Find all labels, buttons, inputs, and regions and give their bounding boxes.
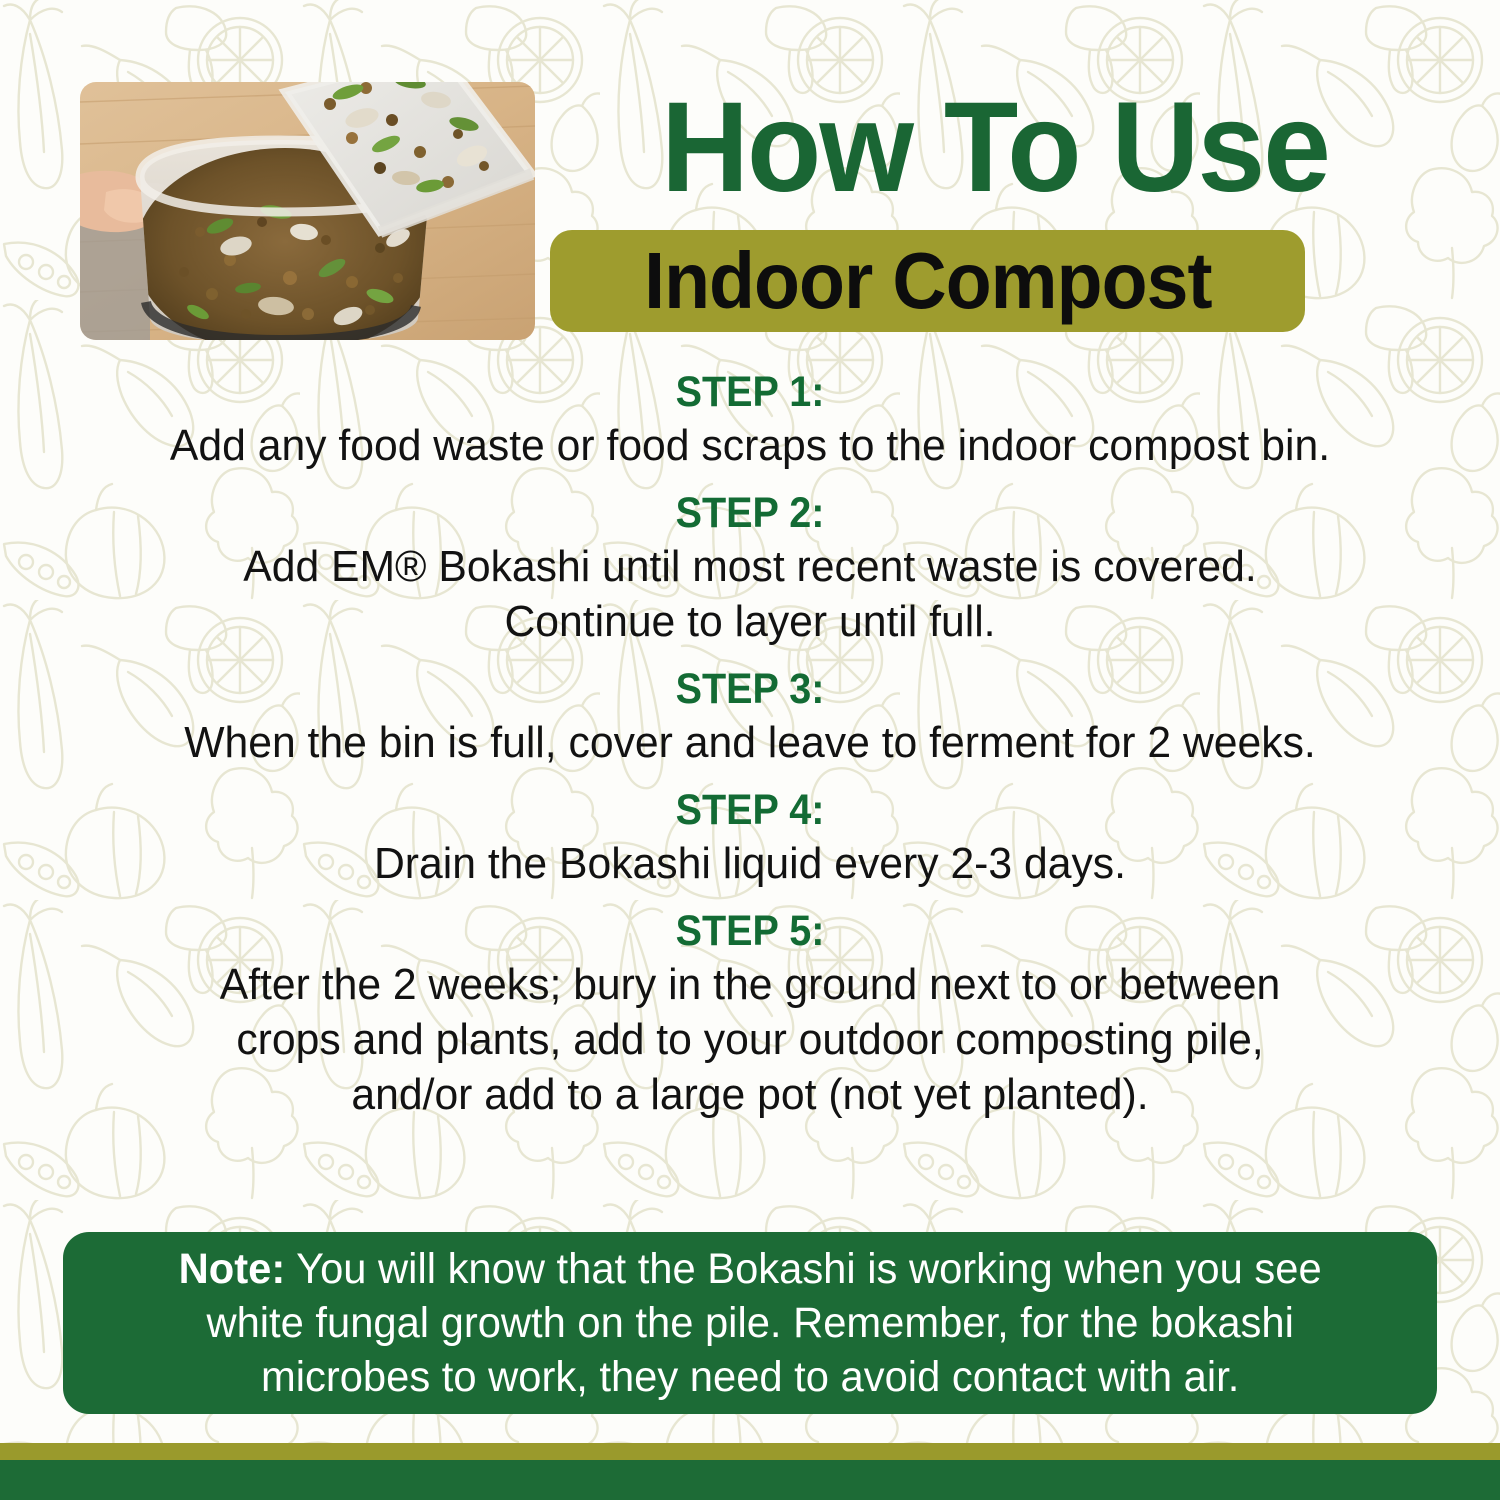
bottom-green-bar [0, 1460, 1500, 1500]
step-2: STEP 2: Add EM® Bokashi until most recen… [0, 487, 1500, 649]
hero-photo-compost-bin [80, 82, 535, 340]
step-1-body: Add any food waste or food scraps to the… [23, 418, 1478, 473]
note-callout-box: Note: You will know that the Bokashi is … [63, 1232, 1437, 1414]
subtitle-banner: Indoor Compost [550, 230, 1305, 332]
step-5: STEP 5: After the 2 weeks; bury in the g… [0, 905, 1500, 1122]
header: How To Use Indoor Compost [0, 0, 1500, 360]
step-1-heading: STEP 1: [60, 366, 1440, 418]
note-line-3: microbes to work, they need to avoid con… [179, 1350, 1322, 1404]
step-4-line-1: Drain the Bokashi liquid every 2-3 days. [90, 836, 1409, 891]
note-text: Note: You will know that the Bokashi is … [155, 1242, 1345, 1404]
step-1-line-1: Add any food waste or food scraps to the… [90, 418, 1409, 473]
infographic-poster: How To Use Indoor Compost STEP 1: Add an… [0, 0, 1500, 1500]
step-3-line-1: When the bin is full, cover and leave to… [90, 715, 1409, 770]
step-2-line-1: Add EM® Bokashi until most recent waste … [90, 539, 1409, 594]
page-subtitle: Indoor Compost [644, 240, 1211, 322]
note-line-2: white fungal growth on the pile. Remembe… [179, 1296, 1322, 1350]
steps-list: STEP 1: Add any food waste or food scrap… [0, 366, 1500, 1136]
step-5-line-3: and/or add to a large pot (not yet plant… [90, 1067, 1409, 1122]
step-1: STEP 1: Add any food waste or food scrap… [0, 366, 1500, 473]
bottom-olive-bar [0, 1443, 1500, 1460]
step-3: STEP 3: When the bin is full, cover and … [0, 663, 1500, 770]
step-4-body: Drain the Bokashi liquid every 2-3 days. [23, 836, 1478, 891]
step-2-body: Add EM® Bokashi until most recent waste … [23, 539, 1478, 649]
page-title: How To Use [568, 78, 1423, 218]
step-5-line-1: After the 2 weeks; bury in the ground ne… [90, 957, 1409, 1012]
step-5-heading: STEP 5: [60, 905, 1440, 957]
step-5-body: After the 2 weeks; bury in the ground ne… [23, 957, 1478, 1122]
step-3-body: When the bin is full, cover and leave to… [23, 715, 1478, 770]
step-5-line-2: crops and plants, add to your outdoor co… [90, 1012, 1409, 1067]
title-block: How To Use Indoor Compost [545, 78, 1445, 348]
step-4: STEP 4: Drain the Bokashi liquid every 2… [0, 784, 1500, 891]
note-label: Note: [179, 1245, 286, 1293]
step-4-heading: STEP 4: [60, 784, 1440, 836]
note-first-line: Note: You will know that the Bokashi is … [179, 1242, 1322, 1296]
step-2-line-2: Continue to layer until full. [90, 594, 1409, 649]
note-line-1: You will know that the Bokashi is workin… [285, 1245, 1321, 1293]
step-2-heading: STEP 2: [60, 487, 1440, 539]
step-3-heading: STEP 3: [60, 663, 1440, 715]
